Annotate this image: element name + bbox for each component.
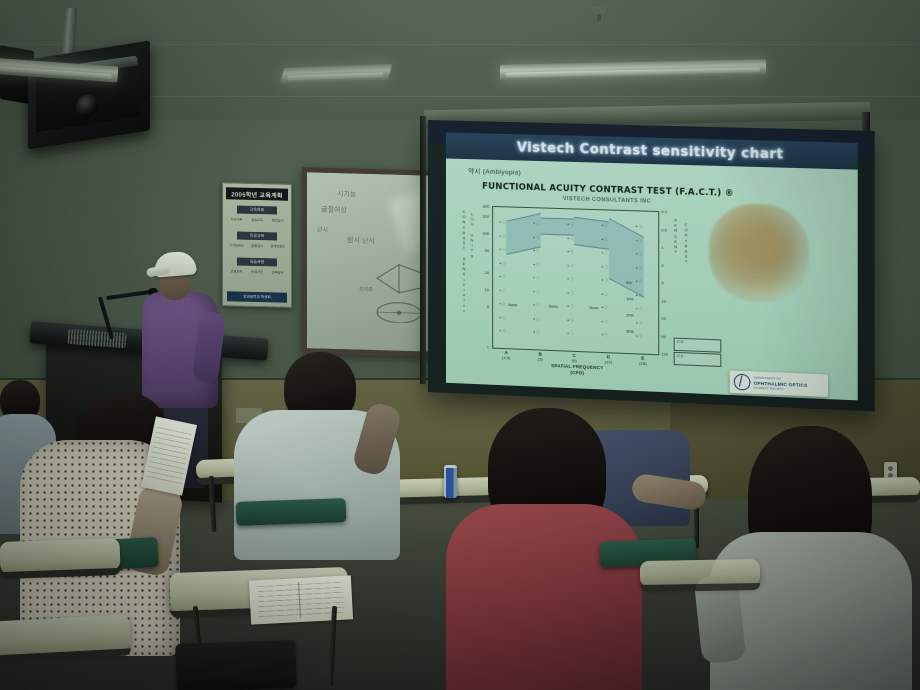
chart-right-axis-label-2: C O N T R A S T — [682, 222, 690, 265]
poster-row-0: 기초이론 실습교육 임상실기 — [227, 217, 287, 223]
chart-data-point: ● ⓘ — [567, 236, 574, 241]
chart-data-point: ● ⓘ — [533, 276, 540, 281]
chart-data-point: ● ⓘ — [601, 251, 608, 256]
chart-band-segment — [574, 217, 608, 250]
slide-content: 약시 (Amblyopia) FUNCTIONAL ACUITY CONTRAS… — [446, 158, 858, 400]
chart-data-point: ● ⓘ — [601, 292, 608, 297]
presenter-cap — [153, 250, 197, 278]
chart-x-axis-title-text: SPATIAL FREQUENCY — [551, 363, 603, 370]
poster-section-2: 실습과정 — [237, 257, 277, 266]
wall-poster: 2005학년 교육계획 교육목표 기초이론 실습교육 임상실기 전공교육 시기능… — [222, 182, 292, 308]
chart-data-point: ● ⓘ — [636, 320, 643, 325]
chart-x-tick: E(18) — [630, 355, 655, 366]
chart-data-point: ● ⓘ — [567, 291, 574, 296]
chart-y-tick: 200 — [475, 213, 489, 218]
ophthalmic-optics-logo: DEPARTMENT OF OPHTHALMIC OPTICS STUDENT … — [730, 370, 828, 397]
whiteboard-line-4: 프리즘 — [359, 286, 373, 293]
poster-cell: 판매실무 — [268, 270, 287, 274]
poster-cell: 콘택트렌즈 — [268, 244, 287, 248]
chart-y-tick: 300 — [475, 203, 489, 208]
chart-x-axis-units: (CPD) — [570, 370, 584, 376]
chart-data-point: ● ⓘ — [567, 304, 574, 309]
poster-cell: 안경가공 — [248, 270, 267, 274]
chair-back — [236, 498, 347, 526]
chart-data-point: ● ⓘ — [533, 303, 540, 308]
chart-data-point: ● ⓘ — [499, 234, 506, 239]
light-tube — [287, 72, 384, 80]
whiteboard-line-1: 굴절이상 — [321, 205, 347, 216]
chart-right-tick: 1 — [661, 245, 675, 251]
chart-right-tick: 10 — [661, 298, 675, 304]
cherub-illustration — [709, 202, 809, 304]
chart-annotation: Norm — [589, 306, 598, 310]
chart-legend-row-1: O.S. — [674, 352, 722, 367]
poster-section-0: 교육목표 — [237, 205, 277, 214]
chart-data-point: ● ⓘ — [636, 266, 643, 271]
chart-left-axis-label: C O N T R A S T S E N S I T I V I T Y — [460, 209, 468, 314]
chart-data-point: ● ⓘ — [533, 289, 540, 294]
poster-section-1: 전공교육 — [237, 231, 277, 240]
presentation-slide: Vistech Contrast sensitivity chart 약시 (A… — [446, 132, 858, 400]
chart-x-tick: C(6) — [562, 352, 586, 363]
chart-data-point: ● ⓘ — [636, 279, 643, 284]
chart-y-tick: 10 — [475, 287, 489, 293]
logo-text: DEPARTMENT OF OPHTHALMIC OPTICS STUDENT … — [754, 375, 808, 393]
chart-y-tick: 5 — [475, 304, 489, 310]
chart-annotation: 10% — [626, 297, 633, 301]
chart-data-point: ● ⓘ — [601, 237, 608, 242]
poster-row-2: 안경조제 안경가공 판매실무 — [227, 269, 287, 275]
chart-data-point: ● ⓘ — [567, 277, 574, 282]
chart-data-point: ● ⓘ — [499, 288, 506, 293]
slide-korean-note: 약시 (Amblyopia) — [468, 165, 521, 177]
worksheet-paper — [249, 575, 353, 624]
chart-right-tick: 20 — [661, 316, 675, 322]
poster-cell: 임상실기 — [268, 218, 287, 222]
chart-data-point: ● ⓘ — [499, 315, 506, 320]
slide-title: Vistech Contrast sensitivity chart — [517, 140, 783, 162]
chart-data-point: ● ⓘ — [499, 329, 506, 334]
whiteboard-line-3: 원시 난시 — [347, 235, 375, 246]
chart-data-point: ● ⓘ — [533, 221, 540, 226]
poster-row-1: 시기능검사 굴절검사 콘택트렌즈 — [227, 243, 287, 249]
poster-cell: 굴절검사 — [248, 244, 267, 248]
chart-data-point: ● ⓘ — [499, 220, 506, 225]
chart-data-point: ● ⓘ — [499, 247, 506, 252]
chart-data-point: ● ⓘ — [636, 252, 643, 257]
chart-data-point: ● ⓘ — [533, 316, 540, 321]
chart-data-point: ● ⓘ — [601, 223, 608, 228]
chart-annotation: 5% — [626, 281, 631, 285]
chart-data-point: ● ⓘ — [499, 275, 506, 280]
fire-sprinkler-icon — [592, 6, 606, 15]
chart-right-tick: 0.5 — [661, 227, 675, 233]
chart-data-point: ● ⓘ — [533, 235, 540, 240]
poster-cell: 실습교육 — [248, 218, 267, 222]
chart-x-tick: B(3) — [528, 351, 552, 362]
chart-legend-row-0: O.D. — [674, 338, 722, 353]
chart-y-tick: 20 — [475, 270, 489, 276]
student-torso — [446, 504, 642, 690]
chart-data-point: ● ⓘ — [636, 225, 643, 230]
desk-right-row — [640, 559, 760, 587]
chart-data-point: ● ⓘ — [533, 262, 540, 267]
screen-frame-left — [420, 116, 426, 384]
chart-data-point: ● ⓘ — [567, 222, 574, 227]
poster-header: 2005학년 교육계획 — [226, 187, 288, 201]
projection-screen: Vistech Contrast sensitivity chart 약시 (A… — [428, 120, 875, 411]
poster-cell: 기초이론 — [227, 217, 246, 221]
chart-data-point: ● ⓘ — [636, 334, 643, 339]
chart-data-point: ● ⓘ — [567, 331, 574, 336]
chart-data-point: ● ⓘ — [499, 302, 506, 307]
chart-annotation: 20% — [626, 313, 633, 317]
chart-y-tick: 100 — [475, 230, 489, 235]
chart-data-point: ● ⓘ — [533, 330, 540, 335]
paper-lines — [146, 427, 191, 485]
student-grey-top — [700, 426, 920, 690]
whiteboard-line-0: 시기능 — [337, 189, 356, 200]
chart-data-point: ● ⓘ — [567, 263, 574, 268]
chart-data-point: ● ⓘ — [499, 261, 506, 266]
chart-annotation: Norm — [549, 304, 558, 308]
chart-right-tick: 2 — [661, 262, 675, 268]
chair-back-front — [175, 640, 297, 690]
chart-data-point: ● ⓘ — [601, 333, 608, 338]
whiteboard-line-2: 근시 — [317, 224, 328, 233]
chart-data-point: ● ⓘ — [601, 264, 608, 269]
chart-data-point: ● ⓘ — [636, 238, 643, 243]
chart-data-point: ● ⓘ — [601, 278, 608, 283]
chart-data-point: ● ⓘ — [567, 250, 574, 255]
chart-data-point: ● ⓘ — [533, 248, 540, 253]
desk-left-front-2 — [0, 614, 131, 657]
chart-annotation: Norm — [508, 303, 517, 307]
chart-data-point: ● ⓘ — [567, 318, 574, 323]
chart-y-tick: 50 — [475, 248, 489, 253]
chart-right-tick: 0.3 — [661, 209, 675, 215]
chart-x-tick: A(1.5) — [494, 350, 518, 361]
chart-data-point: ● ⓘ — [636, 293, 643, 298]
chart-annotation: 50% — [626, 330, 633, 334]
classroom-scene: 2005학년 교육계획 교육목표 기초이론 실습교육 임상실기 전공교육 시기능… — [0, 0, 920, 690]
chart-x-axis-title: SPATIAL FREQUENCY (CPD) — [506, 361, 649, 379]
chart-right-tick: 5 — [661, 280, 675, 286]
light-tube — [506, 67, 760, 77]
chart-data-point: ● ⓘ — [601, 305, 608, 310]
eye-logo-icon — [734, 374, 751, 391]
student-light-blue-shirt — [232, 352, 408, 582]
desk-left-front — [0, 538, 121, 574]
legend-label-os: O.S. — [677, 354, 684, 358]
chart-data-point: ● ⓘ — [636, 307, 643, 312]
poster-cell: 시기능검사 — [227, 243, 246, 247]
chart-x-tick: D(12) — [596, 354, 621, 365]
legend-label-od: O.D. — [677, 340, 685, 344]
chart-y-tick: 1 — [475, 344, 489, 350]
poster-footer: 안경광학과 학생회 — [227, 291, 287, 303]
chart-data-point: ● ⓘ — [601, 319, 608, 324]
